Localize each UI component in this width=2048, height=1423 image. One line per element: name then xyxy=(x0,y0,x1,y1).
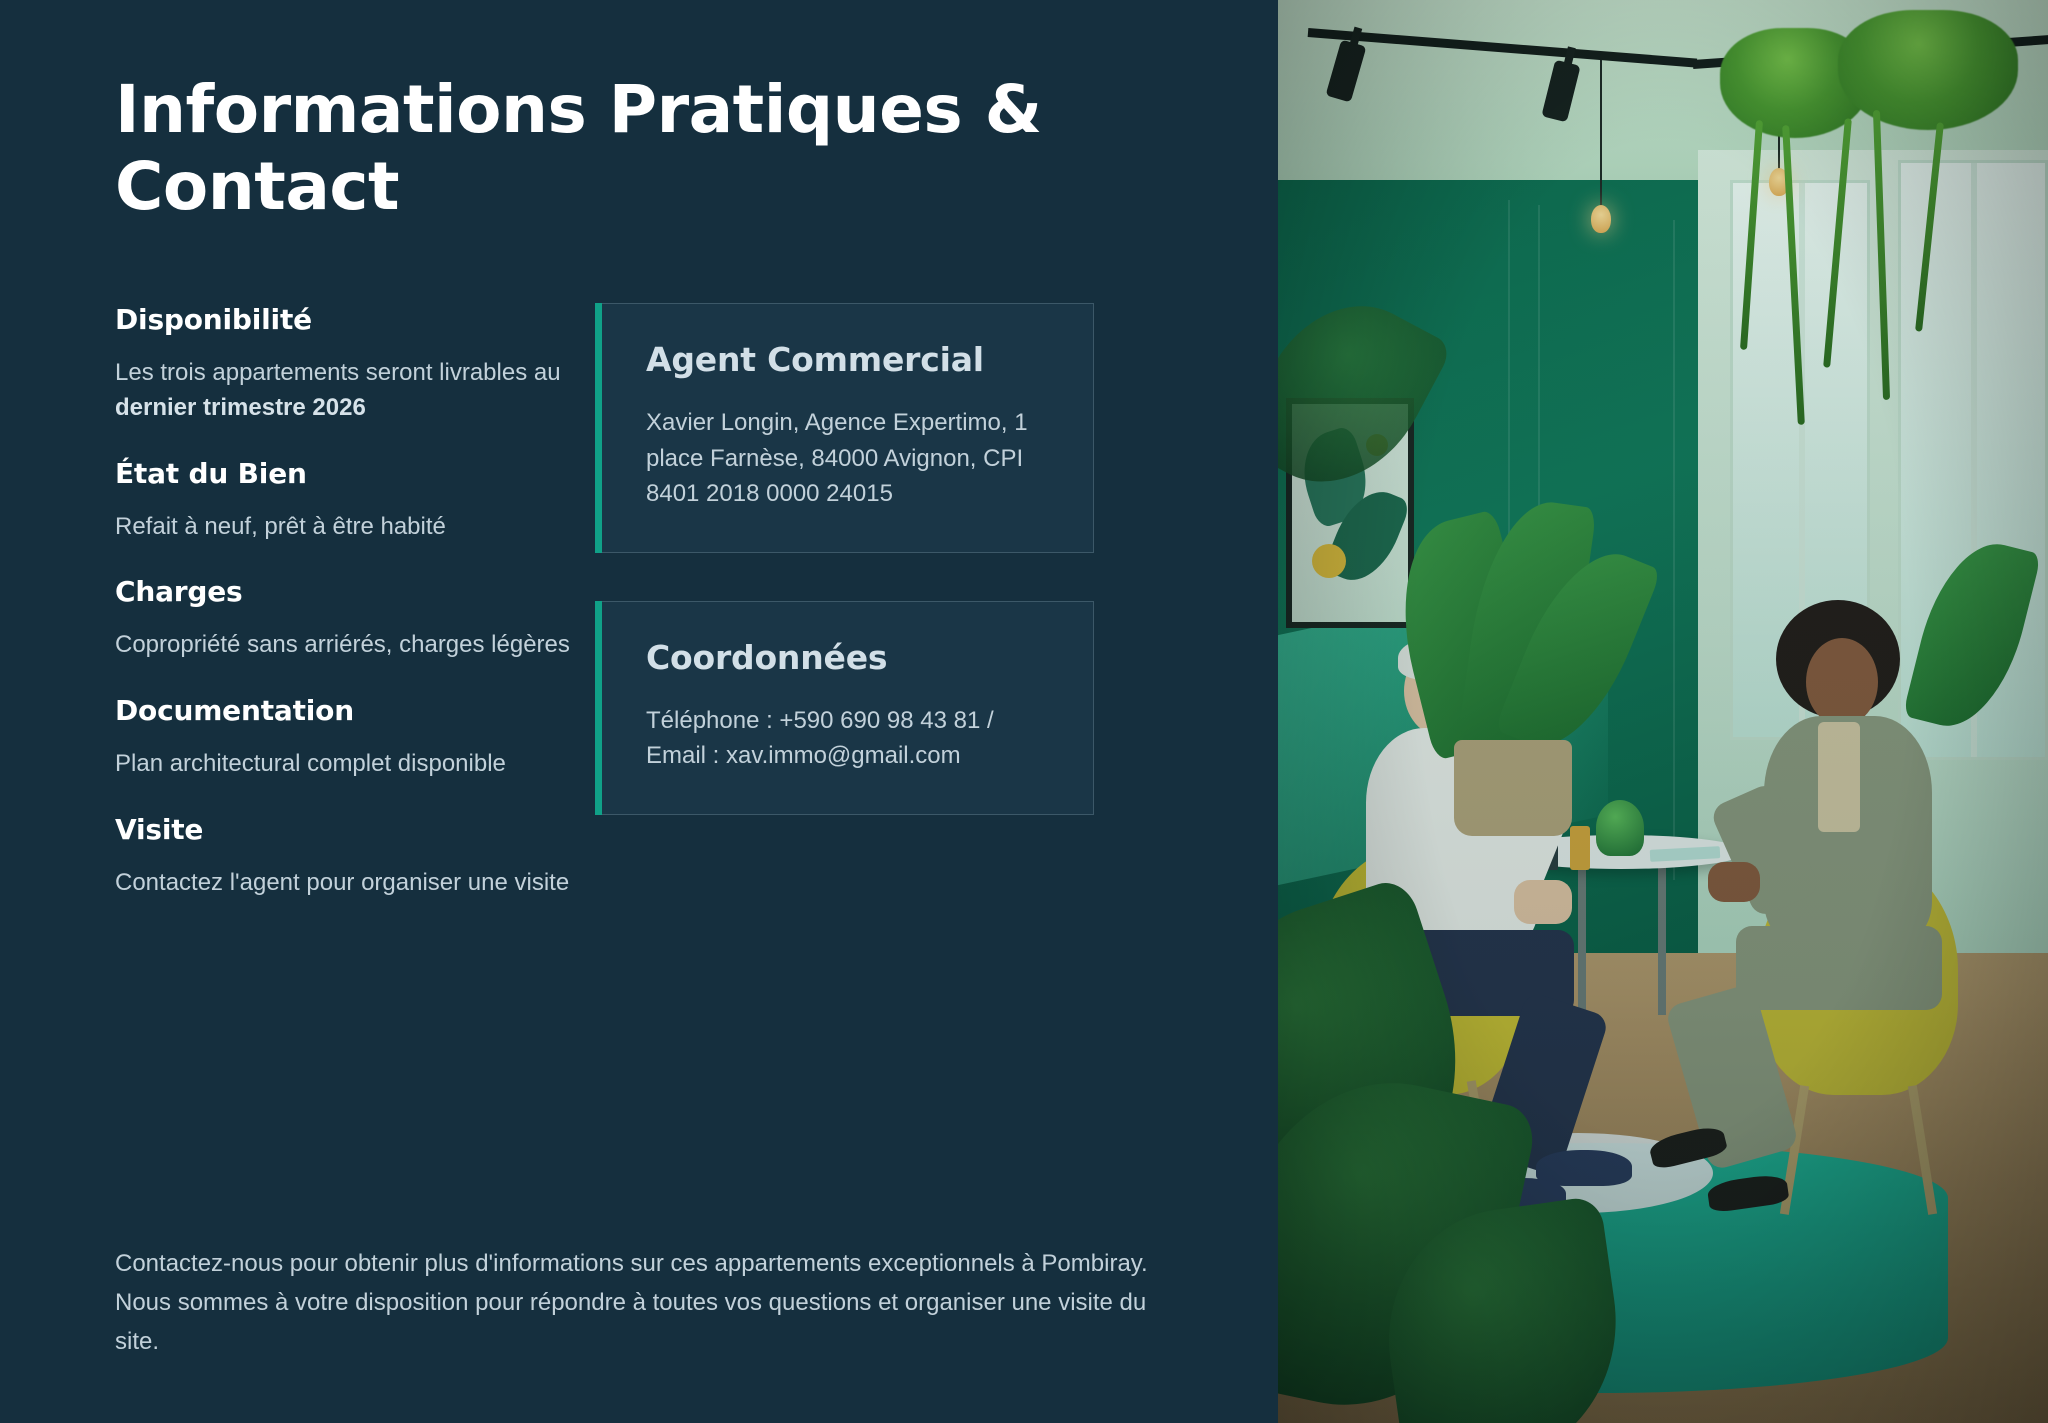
pendant-bulb xyxy=(1591,205,1611,233)
person-hand xyxy=(1708,862,1760,902)
wall-panel-line xyxy=(1673,220,1675,880)
detail-body: Contactez l'agent pour organiser une vis… xyxy=(115,866,575,901)
detail-body: Les trois appartements seront livrables … xyxy=(115,356,575,426)
detail-section-etat-du-bien: État du Bien Refait à neuf, prêt à être … xyxy=(115,457,575,545)
detail-body-strong: dernier trimestre 2026 xyxy=(115,394,366,421)
detail-body-text: Les trois appartements seront livrables … xyxy=(115,359,561,386)
detail-body: Refait à neuf, prêt à être habité xyxy=(115,510,575,545)
agent-commercial-card: Agent Commercial Xavier Longin, Agence E… xyxy=(602,303,1094,553)
person-blouse xyxy=(1818,722,1860,832)
detail-heading: Disponibilité xyxy=(115,303,575,336)
detail-section-charges: Charges Copropriété sans arriérés, charg… xyxy=(115,575,575,663)
slide-root: Informations Pratiques & Contact Disponi… xyxy=(0,0,2048,1423)
content-columns: Disponibilité Les trois appartements ser… xyxy=(115,291,1278,932)
artwork-accent xyxy=(1312,544,1346,578)
detail-heading: Documentation xyxy=(115,694,575,727)
card-title: Agent Commercial xyxy=(646,340,1053,379)
detail-heading: Charges xyxy=(115,575,575,608)
plant-pot xyxy=(1454,740,1572,836)
table-plant xyxy=(1596,800,1644,856)
detail-section-visite: Visite Contactez l'agent pour organiser … xyxy=(115,813,575,901)
person-head xyxy=(1806,638,1878,726)
detail-heading: État du Bien xyxy=(115,457,575,490)
content-panel: Informations Pratiques & Contact Disponi… xyxy=(0,0,1278,1423)
page-title: Informations Pratiques & Contact xyxy=(115,72,1135,225)
hanging-plant xyxy=(1838,10,2018,130)
card-title: Coordonnées xyxy=(646,638,1053,677)
pendant-cord xyxy=(1600,60,1602,210)
detail-heading: Visite xyxy=(115,813,575,846)
coordonnees-card: Coordonnées Téléphone : +590 690 98 43 8… xyxy=(602,601,1094,815)
table-leg xyxy=(1658,865,1666,1015)
person-hands xyxy=(1514,880,1572,924)
detail-section-disponibilite: Disponibilité Les trois appartements ser… xyxy=(115,303,575,426)
detail-body: Copropriété sans arriérés, charges légèr… xyxy=(115,628,575,663)
card-body: Téléphone : +590 690 98 43 81 / Email : … xyxy=(646,703,1053,774)
photo-illustration xyxy=(1278,0,2048,1423)
details-column: Disponibilité Les trois appartements ser… xyxy=(115,291,575,932)
detail-body: Plan architectural complet disponible xyxy=(115,747,575,782)
office-meeting-photo xyxy=(1278,0,2048,1423)
drinking-glass xyxy=(1570,826,1590,870)
table-leg xyxy=(1578,865,1586,1015)
person-legs xyxy=(1736,926,1942,1010)
footer-note: Contactez-nous pour obtenir plus d'infor… xyxy=(115,1244,1175,1361)
cards-column: Agent Commercial Xavier Longin, Agence E… xyxy=(575,291,1278,863)
detail-section-documentation: Documentation Plan architectural complet… xyxy=(115,694,575,782)
card-body: Xavier Longin, Agence Expertimo, 1 place… xyxy=(646,405,1053,512)
